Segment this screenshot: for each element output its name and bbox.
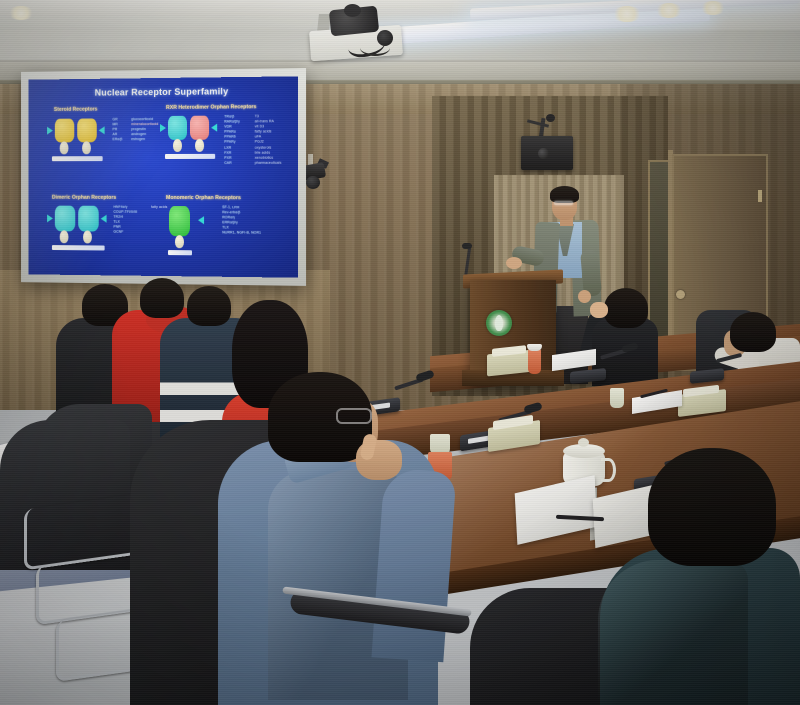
attendee-hair bbox=[604, 288, 648, 328]
attendee-hair bbox=[648, 448, 776, 566]
paper-cup-white bbox=[610, 388, 624, 408]
projector-lens-icon bbox=[377, 30, 393, 46]
projection-screen: Nuclear Receptor Superfamily Steroid Rec… bbox=[29, 76, 298, 277]
attendee-arm bbox=[371, 468, 456, 663]
camera-lens-icon bbox=[306, 176, 320, 189]
attendee-shoulder bbox=[598, 560, 748, 705]
attendee-hair bbox=[187, 286, 231, 326]
attendee-hand bbox=[590, 302, 608, 318]
recessed-downlight bbox=[655, 3, 683, 18]
attendee-hair bbox=[140, 278, 184, 318]
teacup-handle bbox=[601, 458, 616, 482]
door-sidelight-window bbox=[648, 160, 670, 344]
teacup-knob bbox=[578, 438, 589, 447]
paper-cup-red bbox=[528, 349, 541, 374]
door-handle-icon[interactable] bbox=[676, 290, 685, 299]
recessed-downlight bbox=[612, 6, 642, 22]
recessed-downlight bbox=[8, 6, 34, 20]
speaker-cone-icon bbox=[538, 148, 549, 159]
attendee-hair bbox=[730, 312, 776, 352]
screen-glare bbox=[29, 76, 298, 277]
presenter-glasses-icon bbox=[554, 201, 573, 205]
recessed-downlight bbox=[700, 1, 726, 15]
presenter-hand bbox=[578, 290, 591, 303]
paper-cup-green bbox=[430, 434, 450, 454]
paper-cup-rim bbox=[527, 344, 542, 351]
door-latch-icon bbox=[758, 190, 762, 202]
emblem-figure bbox=[495, 315, 503, 331]
conference-room-photo: Nuclear Receptor Superfamily Steroid Rec… bbox=[0, 0, 800, 705]
projector-knob bbox=[344, 4, 361, 17]
speaker-mount-knob bbox=[546, 114, 555, 122]
podium-microphone bbox=[462, 243, 472, 249]
attendee-glasses-icon bbox=[336, 408, 372, 424]
presenter-hand bbox=[506, 257, 522, 269]
